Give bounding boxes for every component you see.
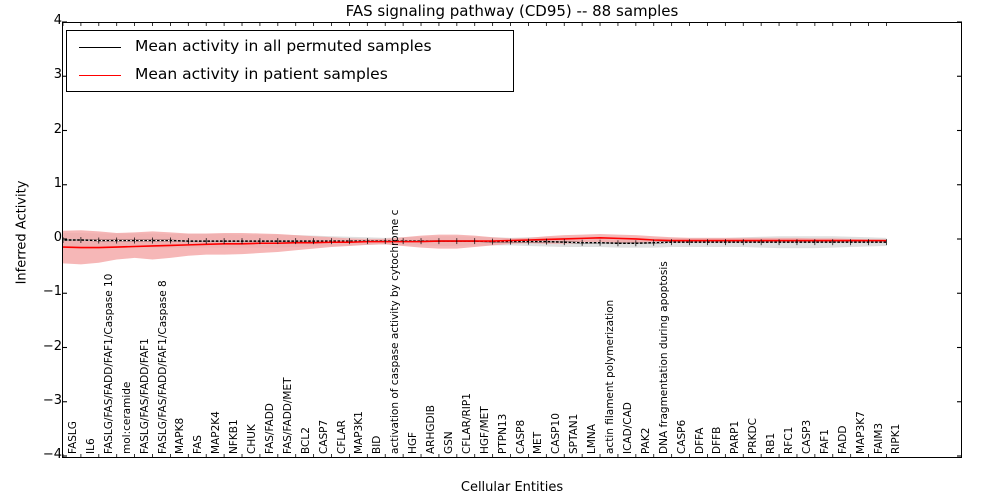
legend-swatch-permuted <box>79 47 121 48</box>
x-tick-label: CASP3 <box>801 420 813 454</box>
x-tick-label: HGF/MET <box>479 406 491 454</box>
x-tick-label: FASLG/FAS/FADD/FAF1 <box>139 338 151 454</box>
legend-label-patient: Mean activity in patient samples <box>135 65 388 83</box>
x-tick-label: DFFB <box>711 427 723 454</box>
legend-swatch-patient <box>79 75 121 76</box>
x-tick-label: NFKB1 <box>228 419 240 454</box>
x-tick-label: CASP10 <box>550 413 562 454</box>
x-tick-label: CASP6 <box>676 420 688 454</box>
x-tick-label: FASLG/FAS/FADD/FAF1/Caspase 10 <box>103 274 115 454</box>
x-tick-label: FASLG <box>67 421 79 454</box>
x-tick-label: actin filament polymerization <box>604 300 616 454</box>
x-tick-label: CFLAR <box>336 420 348 454</box>
x-tick-label: FAS/FADD <box>264 403 276 454</box>
x-tick-label: ICAD/CAD <box>622 402 634 454</box>
x-tick-label: PTPN13 <box>497 414 509 454</box>
x-tick-label: LMNA <box>586 424 598 454</box>
x-tick-label: PRKDC <box>747 418 759 454</box>
chart-figure: FAS signaling pathway (CD95) -- 88 sampl… <box>0 0 1000 500</box>
x-tick-label: activation of caspase activity by cytoch… <box>389 210 401 454</box>
x-tick-label: BID <box>371 436 383 454</box>
x-tick-label: PAK2 <box>640 428 652 454</box>
x-tick-label: HGF <box>407 432 419 454</box>
x-tick-label: MAP3K7 <box>855 411 867 454</box>
x-tick-label: DNA fragmentation during apoptosis <box>658 261 670 454</box>
x-tick-label: FAIM3 <box>873 423 885 454</box>
chart-legend: Mean activity in all permuted samples Me… <box>66 30 514 92</box>
x-tick-label: FAS <box>192 435 204 454</box>
x-tick-label: RIPK1 <box>890 424 902 454</box>
x-tick-label: RFC1 <box>783 427 795 454</box>
legend-entry-patient: Mean activity in patient samples <box>67 62 513 90</box>
legend-entry-permuted: Mean activity in all permuted samples <box>67 34 513 62</box>
x-tick-label: IL6 <box>85 438 97 454</box>
x-tick-label: BCL2 <box>300 427 312 454</box>
x-tick-label: CFLAR/RIP1 <box>461 393 473 454</box>
x-tick-label: CASP8 <box>515 420 527 454</box>
x-tick-label: FASLG/FAS/FADD/FAF1/Caspase 8 <box>157 280 169 454</box>
x-tick-label: FAS/FADD/MET <box>282 377 294 454</box>
x-tick-label: mol:ceramide <box>121 382 133 454</box>
x-tick-label: MAP2K4 <box>210 411 222 454</box>
x-tick-label: RB1 <box>765 433 777 454</box>
x-tick-label: SPTAN1 <box>568 414 580 454</box>
x-tick-label: MET <box>532 432 544 454</box>
x-tick-label: PARP1 <box>729 421 741 454</box>
x-tick-label: CHUK <box>246 424 258 454</box>
x-tick-label: FAF1 <box>819 429 831 454</box>
x-tick-label: ARHGDIB <box>425 405 437 454</box>
x-tick-label: GSN <box>443 431 455 454</box>
x-tick-label: FADD <box>837 426 849 454</box>
x-tick-label: MAPK8 <box>174 418 186 454</box>
x-tick-label: MAP3K1 <box>353 411 365 454</box>
x-tick-label: DFFA <box>694 428 706 454</box>
x-tick-label: CASP7 <box>318 420 330 454</box>
legend-label-permuted: Mean activity in all permuted samples <box>135 37 432 55</box>
